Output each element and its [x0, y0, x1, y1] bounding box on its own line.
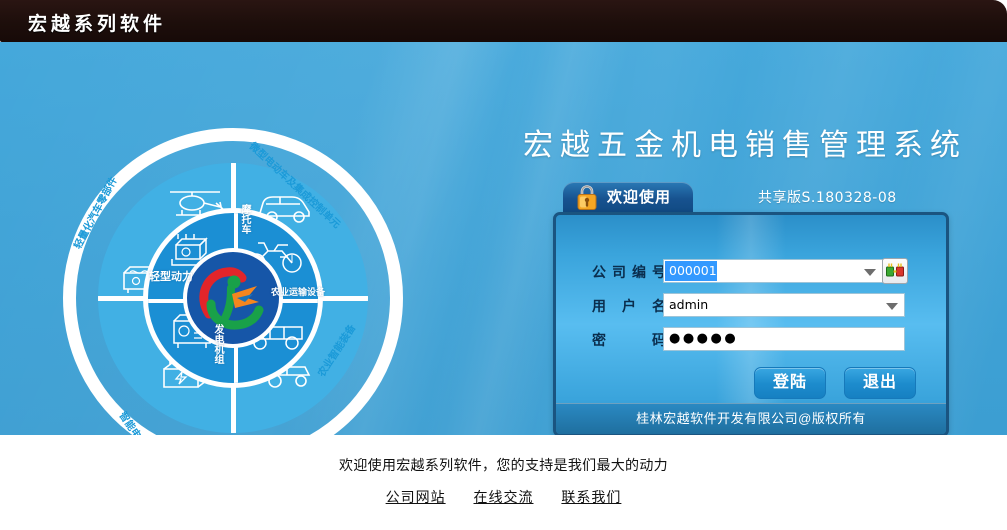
- footer-link-online-chat[interactable]: 在线交流: [474, 489, 534, 505]
- database-connection-icon: [883, 259, 907, 283]
- login-panel: 公司编号 000001 用户名: [553, 212, 949, 435]
- form-row-company: 公司编号 000001: [556, 260, 946, 284]
- company-logo-icon: [187, 252, 279, 344]
- login-tabstrip: 欢迎使用 共享版S.180328-08: [553, 182, 949, 213]
- version-label: 共享版S.180328-08: [758, 187, 897, 207]
- wheel-inner-label: 发电机组: [210, 324, 225, 364]
- wheel-inner-label: 摩托车: [237, 204, 252, 234]
- exit-button[interactable]: 退出: [844, 367, 916, 399]
- page-footer: 欢迎使用宏越系列软件，您的支持是我们最大的动力 公司网站 在线交流 联系我们: [0, 435, 1007, 530]
- database-connection-button[interactable]: [882, 258, 908, 284]
- footer-links: 公司网站 在线交流 联系我们: [0, 487, 1007, 507]
- window-title: 宏越系列软件: [28, 9, 166, 36]
- window-titlebar: 宏越系列软件: [0, 0, 1007, 42]
- login-button[interactable]: 登陆: [754, 367, 826, 399]
- username-label: 用户名: [592, 296, 666, 316]
- chevron-down-icon[interactable]: [864, 269, 876, 276]
- password-value: ●●●●●: [665, 329, 738, 349]
- password-input[interactable]: ●●●●●: [664, 328, 904, 350]
- company-code-value: 000001: [665, 261, 717, 281]
- form-row-username: 用户名 admin: [556, 294, 946, 318]
- login-screen: 宏越系列软件 宏越五金机电销售管理系统: [0, 0, 1007, 530]
- footer-link-contact[interactable]: 联系我们: [561, 489, 621, 505]
- form-row-password: 密码 ●●●●●: [556, 328, 946, 352]
- panel-glow: [716, 215, 786, 434]
- wheel-inner-label: 轻型动力: [149, 268, 193, 284]
- main-stage: 宏越五金机电销售管理系统: [0, 42, 1007, 435]
- tab-welcome[interactable]: 欢迎使用: [563, 182, 693, 213]
- footer-message: 欢迎使用宏越系列软件，您的支持是我们最大的动力: [0, 455, 1007, 475]
- login-button-row: 登陆 退出: [556, 367, 946, 399]
- padlock-icon: [575, 184, 599, 211]
- username-value: admin: [665, 295, 708, 315]
- chevron-down-icon[interactable]: [886, 303, 898, 310]
- company-code-input[interactable]: 000001: [664, 260, 882, 282]
- tab-welcome-label: 欢迎使用: [607, 189, 671, 206]
- product-wheel-graphic: 轻量化汽车零部件 微型电动车及集成控制单元 智能电源 农业智能装备 轻型动力 摩…: [63, 128, 403, 435]
- wheel-hub: [183, 248, 283, 348]
- username-input[interactable]: admin: [664, 294, 904, 316]
- company-code-label: 公司编号: [592, 262, 666, 282]
- password-label: 密码: [592, 330, 666, 350]
- app-headline: 宏越五金机电销售管理系统: [500, 120, 990, 164]
- footer-link-website[interactable]: 公司网站: [386, 489, 446, 505]
- wheel-inner-label: 农业运输设备: [271, 285, 325, 298]
- panel-copyright: 桂林宏越软件开发有限公司@版权所有: [556, 403, 946, 434]
